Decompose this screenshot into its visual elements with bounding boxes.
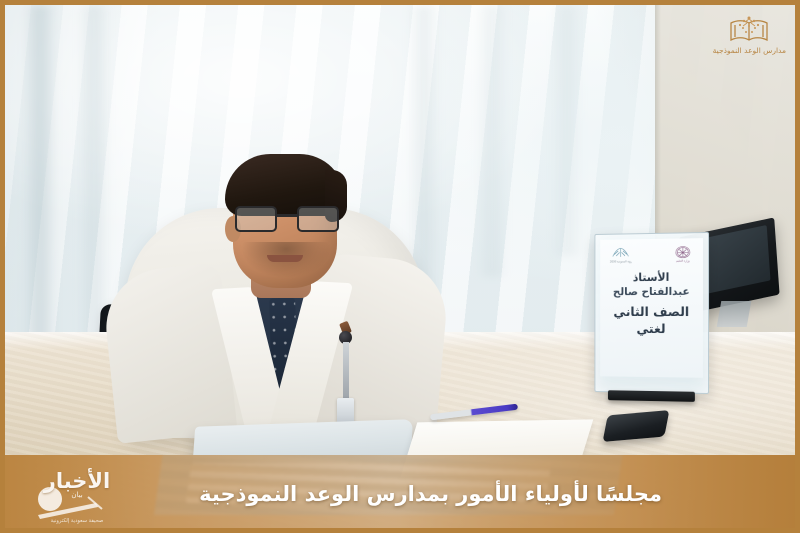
ministry-logo-caption: وزارة التعليم: [676, 261, 690, 264]
school-brand-name: مدارس الوعد النموذجية: [713, 46, 786, 55]
glasses-bridge: [277, 214, 297, 217]
photo-canvas: وزارة التعليم رؤية السعودية 2030: [5, 5, 795, 528]
watermark-tagline: صحيفة سعودية إلكترونية: [26, 518, 128, 524]
curtain-fold: [23, 5, 57, 371]
ministry-of-education-icon: وزارة التعليم: [673, 244, 693, 263]
school-brand-logo: مدارس الوعد النموذجية: [713, 12, 786, 55]
sign-person-name: عبدالفتاح صالح: [604, 286, 699, 299]
open-book-logo-icon: [727, 12, 771, 44]
name-sign: وزارة التعليم رؤية السعودية 2030: [594, 232, 709, 394]
sign-logos: وزارة التعليم رؤية السعودية 2030: [604, 244, 699, 264]
badge-strap: [343, 342, 349, 404]
lens-left: [235, 206, 277, 232]
mouth: [267, 255, 303, 262]
screenshot-root: وزارة التعليم رؤية السعودية 2030: [0, 0, 800, 533]
vision-logo-caption: رؤية السعودية 2030: [610, 261, 632, 264]
watermark-name: الأخبار: [26, 469, 128, 493]
sign-grade: الصف الثاني: [604, 304, 699, 319]
monitor-stand: [717, 301, 752, 327]
lens-right: [297, 206, 339, 232]
sign-base: [608, 390, 695, 402]
vision-2030-icon: رؤية السعودية 2030: [610, 245, 632, 264]
name-sign-paper: وزارة التعليم رؤية السعودية 2030: [600, 238, 703, 378]
seated-man: [125, 93, 425, 438]
eyeglasses-icon: [235, 206, 339, 232]
sign-subject: لغتي: [604, 321, 699, 337]
news-watermark: بيان الأخبار صحيفة سعودية إلكترونية: [26, 463, 128, 525]
curtain-fold: [475, 5, 509, 277]
sign-title: الأستاذ: [604, 271, 699, 285]
curtain-fold: [550, 5, 584, 256]
caption-headline: مجلسًا لأولياء الأمور بمدارس الوعد النمو…: [199, 482, 662, 506]
